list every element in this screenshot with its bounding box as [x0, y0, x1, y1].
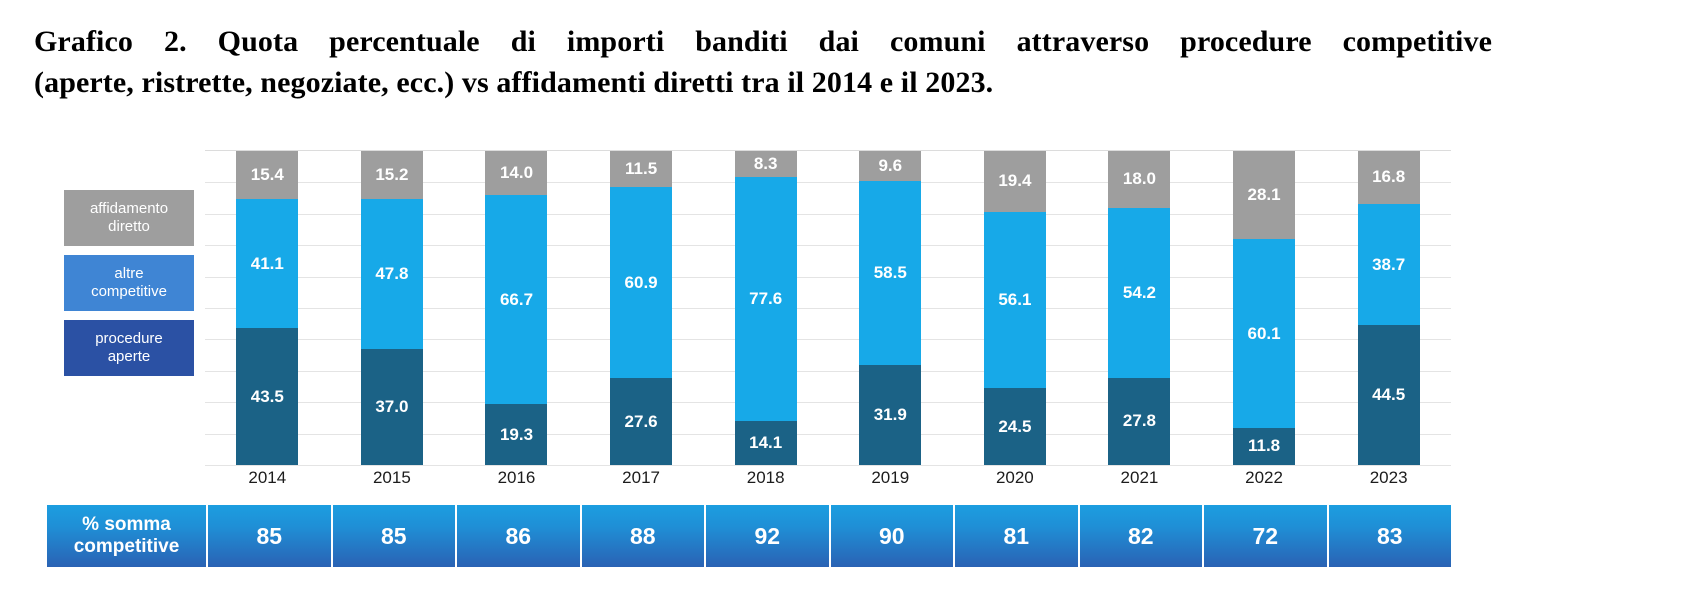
- bar-segment-altre-competitive[interactable]: 54.2: [1108, 208, 1170, 378]
- bar-column-2021: 18.054.227.8: [1077, 151, 1201, 465]
- summary-cell-2020: 81: [955, 505, 1080, 567]
- chart-bars: 15.441.143.515.247.837.014.066.719.311.5…: [205, 151, 1451, 465]
- legend-label-altre-competitive-line-1: altre: [114, 265, 143, 283]
- x-axis-label-2019: 2019: [828, 468, 952, 488]
- bar-segment-altre-competitive[interactable]: 77.6: [735, 177, 797, 421]
- bar-segment-value: 24.5: [998, 417, 1031, 437]
- x-axis-label-2017: 2017: [579, 468, 703, 488]
- bar-column-2020: 19.456.124.5: [953, 151, 1077, 465]
- summary-cell-2019: 90: [831, 505, 956, 567]
- bar-segment-value: 19.4: [998, 171, 1031, 191]
- chart-plot-area: 15.441.143.515.247.837.014.066.719.311.5…: [205, 150, 1451, 465]
- bar-segment-altre-competitive[interactable]: 56.1: [984, 212, 1046, 388]
- bar-segment-value: 14.0: [500, 163, 533, 183]
- bar-segment-value: 11.5: [625, 159, 657, 179]
- stacked-bar[interactable]: 15.247.837.0: [361, 151, 423, 465]
- bar-column-2017: 11.560.927.6: [579, 151, 703, 465]
- page-title: Grafico 2. Quota percentuale di importi …: [34, 22, 1492, 103]
- bar-segment-value: 66.7: [500, 290, 533, 310]
- bar-segment-affidamento-diretto[interactable]: 14.0: [485, 151, 547, 195]
- legend-label-procedure-aperte-line-2: aperte: [108, 348, 151, 366]
- bar-segment-value: 27.6: [625, 412, 658, 432]
- bar-segment-value: 15.2: [375, 165, 408, 185]
- bar-column-2023: 16.838.744.5: [1327, 151, 1451, 465]
- bar-segment-value: 37.0: [375, 397, 408, 417]
- bar-segment-value: 18.0: [1123, 169, 1156, 189]
- bar-segment-value: 60.9: [625, 273, 658, 293]
- stacked-bar[interactable]: 14.066.719.3: [485, 151, 547, 465]
- bar-segment-procedure-aperte[interactable]: 11.8: [1233, 428, 1295, 465]
- bar-column-2022: 28.160.111.8: [1202, 151, 1326, 465]
- legend-label-altre-competitive-line-2: competitive: [91, 283, 167, 301]
- bar-segment-value: 56.1: [998, 290, 1031, 310]
- title-line-2: (aperte, ristrette, negoziate, ecc.) vs …: [34, 63, 1492, 104]
- summary-bar-label: % somma competitive: [47, 505, 208, 567]
- legend-item-procedure-aperte[interactable]: procedure aperte: [64, 320, 194, 376]
- bar-column-2014: 15.441.143.5: [205, 151, 329, 465]
- summary-cell-2015: 85: [333, 505, 458, 567]
- bar-column-2015: 15.247.837.0: [330, 151, 454, 465]
- bar-segment-affidamento-diretto[interactable]: 15.2: [361, 151, 423, 199]
- stacked-bar[interactable]: 19.456.124.5: [984, 151, 1046, 465]
- legend-label-procedure-aperte-line-1: procedure: [95, 330, 163, 348]
- bar-segment-value: 58.5: [874, 263, 907, 283]
- summary-label-line-2: competitive: [74, 536, 180, 558]
- x-axis-label-2016: 2016: [454, 468, 578, 488]
- bar-segment-value: 38.7: [1372, 255, 1405, 275]
- bar-segment-altre-competitive[interactable]: 38.7: [1358, 204, 1420, 326]
- bar-segment-altre-competitive[interactable]: 47.8: [361, 199, 423, 349]
- x-axis-label-2023: 2023: [1327, 468, 1451, 488]
- bar-segment-altre-competitive[interactable]: 60.1: [1233, 239, 1295, 428]
- bar-segment-procedure-aperte[interactable]: 37.0: [361, 349, 423, 465]
- bar-segment-value: 43.5: [251, 387, 284, 407]
- stacked-bar[interactable]: 9.658.531.9: [859, 151, 921, 465]
- bar-segment-affidamento-diretto[interactable]: 16.8: [1358, 151, 1420, 204]
- x-axis-label-2014: 2014: [205, 468, 329, 488]
- gridline: [205, 465, 1451, 466]
- bar-segment-value: 31.9: [874, 405, 907, 425]
- bar-segment-value: 28.1: [1248, 185, 1281, 205]
- title-line-1: Grafico 2. Quota percentuale di importi …: [34, 22, 1492, 63]
- bar-segment-procedure-aperte[interactable]: 31.9: [859, 365, 921, 465]
- bar-segment-affidamento-diretto[interactable]: 15.4: [236, 151, 298, 199]
- bar-segment-value: 16.8: [1372, 167, 1405, 187]
- x-axis-label-2020: 2020: [953, 468, 1077, 488]
- bar-segment-procedure-aperte[interactable]: 43.5: [236, 328, 298, 465]
- x-axis-label-2022: 2022: [1202, 468, 1326, 488]
- x-axis-label-2021: 2021: [1077, 468, 1201, 488]
- summary-cell-2014: 85: [208, 505, 333, 567]
- bar-segment-affidamento-diretto[interactable]: 11.5: [610, 151, 672, 187]
- stacked-bar[interactable]: 16.838.744.5: [1358, 151, 1420, 465]
- summary-cell-2021: 82: [1080, 505, 1205, 567]
- summary-cell-2016: 86: [457, 505, 582, 567]
- legend-item-affidamento-diretto[interactable]: affidamento diretto: [64, 190, 194, 246]
- bar-segment-procedure-aperte[interactable]: 14.1: [735, 421, 797, 465]
- bar-segment-value: 54.2: [1123, 283, 1156, 303]
- bar-segment-procedure-aperte[interactable]: 27.8: [1108, 378, 1170, 465]
- legend-label-affidamento-diretto-line-1: affidamento: [90, 200, 168, 218]
- bar-column-2016: 14.066.719.3: [454, 151, 578, 465]
- summary-cell-2023: 83: [1329, 505, 1452, 567]
- summary-cell-2017: 88: [582, 505, 707, 567]
- stacked-bar[interactable]: 11.560.927.6: [610, 151, 672, 465]
- stacked-bar[interactable]: 18.054.227.8: [1108, 151, 1170, 465]
- bar-segment-affidamento-diretto[interactable]: 28.1: [1233, 151, 1295, 239]
- stacked-bar[interactable]: 15.441.143.5: [236, 151, 298, 465]
- bar-segment-value: 14.1: [749, 433, 782, 453]
- bar-column-2018: 8.377.614.1: [704, 151, 828, 465]
- bar-segment-procedure-aperte[interactable]: 19.3: [485, 404, 547, 465]
- bar-segment-affidamento-diretto[interactable]: 8.3: [735, 151, 797, 177]
- bar-segment-procedure-aperte[interactable]: 27.6: [610, 378, 672, 465]
- summary-cell-2018: 92: [706, 505, 831, 567]
- bar-segment-affidamento-diretto[interactable]: 9.6: [859, 151, 921, 181]
- bar-segment-value: 9.6: [878, 156, 902, 176]
- bar-segment-value: 41.1: [251, 254, 284, 274]
- bar-segment-value: 47.8: [375, 264, 408, 284]
- bar-segment-value: 60.1: [1248, 324, 1281, 344]
- bar-segment-value: 44.5: [1372, 385, 1405, 405]
- summary-cell-2022: 72: [1204, 505, 1329, 567]
- bar-segment-altre-competitive[interactable]: 66.7: [485, 195, 547, 404]
- stacked-bar[interactable]: 28.160.111.8: [1233, 151, 1295, 465]
- bar-segment-affidamento-diretto[interactable]: 19.4: [984, 151, 1046, 212]
- bar-segment-altre-competitive[interactable]: 58.5: [859, 181, 921, 365]
- bar-segment-value: 19.3: [500, 425, 533, 445]
- bar-segment-procedure-aperte[interactable]: 44.5: [1358, 325, 1420, 465]
- summary-label-line-1: % somma: [82, 514, 171, 536]
- chart-legend: affidamento diretto altre competitive pr…: [64, 190, 194, 376]
- x-axis-label-2018: 2018: [704, 468, 828, 488]
- summary-bar: % somma competitive 85858688929081827283: [47, 505, 1451, 567]
- bar-segment-value: 8.3: [754, 154, 778, 174]
- bar-column-2019: 9.658.531.9: [828, 151, 952, 465]
- bar-segment-altre-competitive[interactable]: 41.1: [236, 199, 298, 328]
- bar-segment-value: 77.6: [749, 289, 782, 309]
- bar-segment-procedure-aperte[interactable]: 24.5: [984, 388, 1046, 465]
- bar-segment-value: 27.8: [1123, 411, 1156, 431]
- bar-segment-affidamento-diretto[interactable]: 18.0: [1108, 151, 1170, 208]
- x-axis-label-2015: 2015: [330, 468, 454, 488]
- bar-segment-altre-competitive[interactable]: 60.9: [610, 187, 672, 378]
- bar-segment-value: 15.4: [251, 165, 284, 185]
- chart-x-axis: 2014201520162017201820192020202120222023: [205, 468, 1451, 488]
- bar-segment-value: 11.8: [1248, 436, 1280, 456]
- legend-label-affidamento-diretto-line-2: diretto: [108, 218, 150, 236]
- stacked-bar[interactable]: 8.377.614.1: [735, 151, 797, 465]
- legend-item-altre-competitive[interactable]: altre competitive: [64, 255, 194, 311]
